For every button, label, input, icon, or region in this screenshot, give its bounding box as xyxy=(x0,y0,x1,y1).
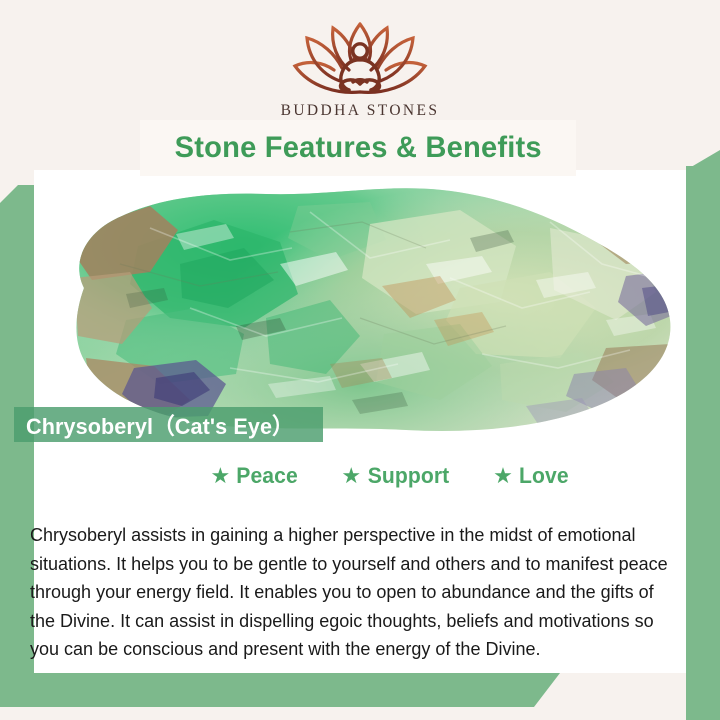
benefit-item-support: ★ Support xyxy=(341,463,451,489)
benefit-item-love: ★ Love xyxy=(493,463,569,489)
benefit-label: Support xyxy=(368,463,450,489)
star-icon: ★ xyxy=(493,465,513,487)
stone-info-card: BUDDHA STONES xyxy=(0,0,720,720)
stone-name-label: Chrysoberyl（Cat's Eye） xyxy=(26,409,294,441)
benefit-label: Peace xyxy=(236,463,298,489)
frame-left-border xyxy=(0,185,34,707)
benefits-row: ★ Peace ★ Support ★ Love xyxy=(34,463,716,489)
star-icon: ★ xyxy=(341,465,361,487)
star-icon: ★ xyxy=(210,465,230,487)
stone-name-band: Chrysoberyl（Cat's Eye） xyxy=(14,407,323,442)
stone-description: Chrysoberyl assists in gaining a higher … xyxy=(30,521,680,664)
stone-photo-image xyxy=(34,170,686,442)
frame-bottom-border xyxy=(0,673,560,707)
stone-photo xyxy=(34,170,686,442)
page-title: Stone Features & Benefits xyxy=(174,131,541,165)
title-banner: Stone Features & Benefits xyxy=(140,120,576,176)
frame-right-border xyxy=(686,166,720,720)
lotus-meditation-figure-icon xyxy=(277,18,443,100)
benefit-item-peace: ★ Peace xyxy=(210,463,299,489)
benefit-label: Love xyxy=(519,463,569,489)
brand-logo-block: BUDDHA STONES xyxy=(0,18,720,120)
brand-name: BUDDHA STONES xyxy=(0,102,720,120)
